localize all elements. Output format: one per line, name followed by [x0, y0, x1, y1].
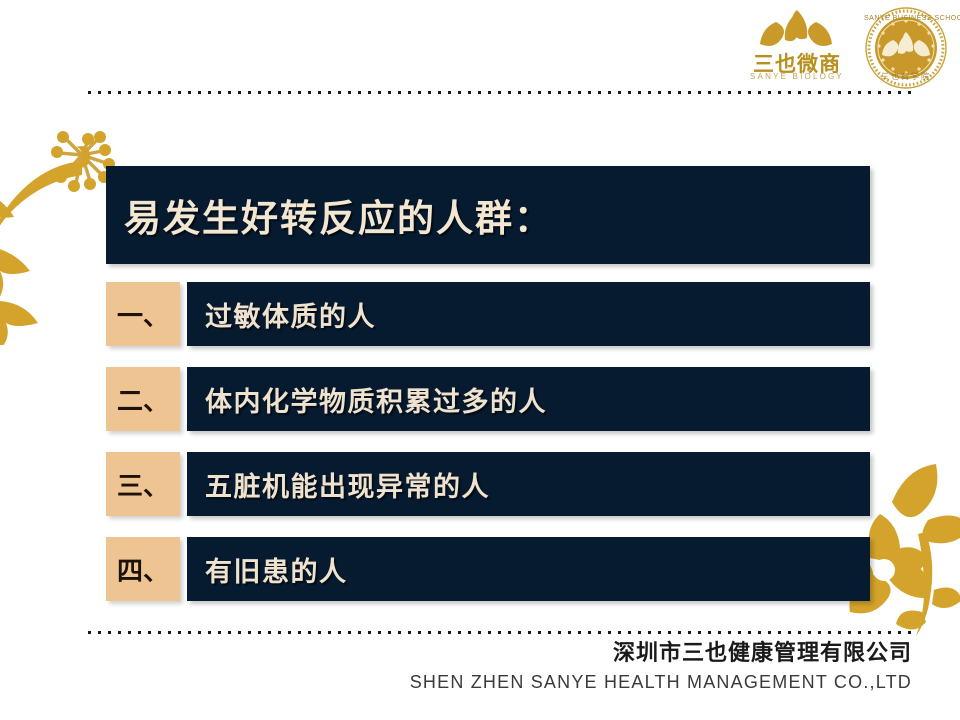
wordmark-english: SANYE BIOLOGY	[742, 72, 852, 81]
list-item-number: 三、	[106, 452, 180, 516]
list-item-label: 体内化学物质积累过多的人	[205, 380, 547, 419]
list-item-number: 四、	[106, 537, 180, 601]
slide-title-bar: 易发生好转反应的人群：	[106, 166, 870, 264]
sanye-biology-logo: 三也微商 SANYE BIOLOGY	[742, 8, 852, 88]
divider-bottom	[88, 631, 912, 634]
list-item-number: 一、	[106, 282, 180, 346]
list-item-label: 过敏体质的人	[205, 295, 376, 334]
list-item: 三、 五脏机能出现异常的人	[106, 452, 870, 516]
divider-top	[88, 91, 912, 94]
leaf-mark-icon	[742, 8, 852, 52]
company-name-english: SHEN ZHEN SANYE HEALTH MANAGEMENT CO.,LT…	[410, 672, 912, 693]
list-item-body: 过敏体质的人	[187, 282, 870, 346]
bullet-list: 一、 过敏体质的人 二、 体内化学物质积累过多的人 三、 五脏机能出现异常的人 …	[106, 282, 870, 601]
list-item-label: 五脏机能出现异常的人	[205, 465, 490, 504]
list-item: 一、 过敏体质的人	[106, 282, 870, 346]
list-item: 二、 体内化学物质积累过多的人	[106, 367, 870, 431]
footer: 深圳市三也健康管理有限公司 SHEN ZHEN SANYE HEALTH MAN…	[410, 640, 912, 693]
page-title: 易发生好转反应的人群：	[124, 188, 553, 242]
seal-bottom-label: 三也商学院	[864, 71, 948, 82]
list-item-body: 五脏机能出现异常的人	[187, 452, 870, 516]
list-item-body: 有旧患的人	[187, 537, 870, 601]
list-item-number: 二、	[106, 367, 180, 431]
sanye-business-school-seal: SANYE BUSINESS SCHOOL 三也商学院	[864, 6, 948, 90]
brand-logos: 三也微商 SANYE BIOLOGY	[742, 6, 948, 90]
slide-canvas: 三也微商 SANYE BIOLOGY	[0, 0, 960, 720]
list-item: 四、 有旧患的人	[106, 537, 870, 601]
list-item-body: 体内化学物质积累过多的人	[187, 367, 870, 431]
company-name-chinese: 深圳市三也健康管理有限公司	[410, 640, 912, 668]
seal-top-label: SANYE BUSINESS SCHOOL	[864, 15, 948, 22]
list-item-label: 有旧患的人	[205, 550, 348, 589]
